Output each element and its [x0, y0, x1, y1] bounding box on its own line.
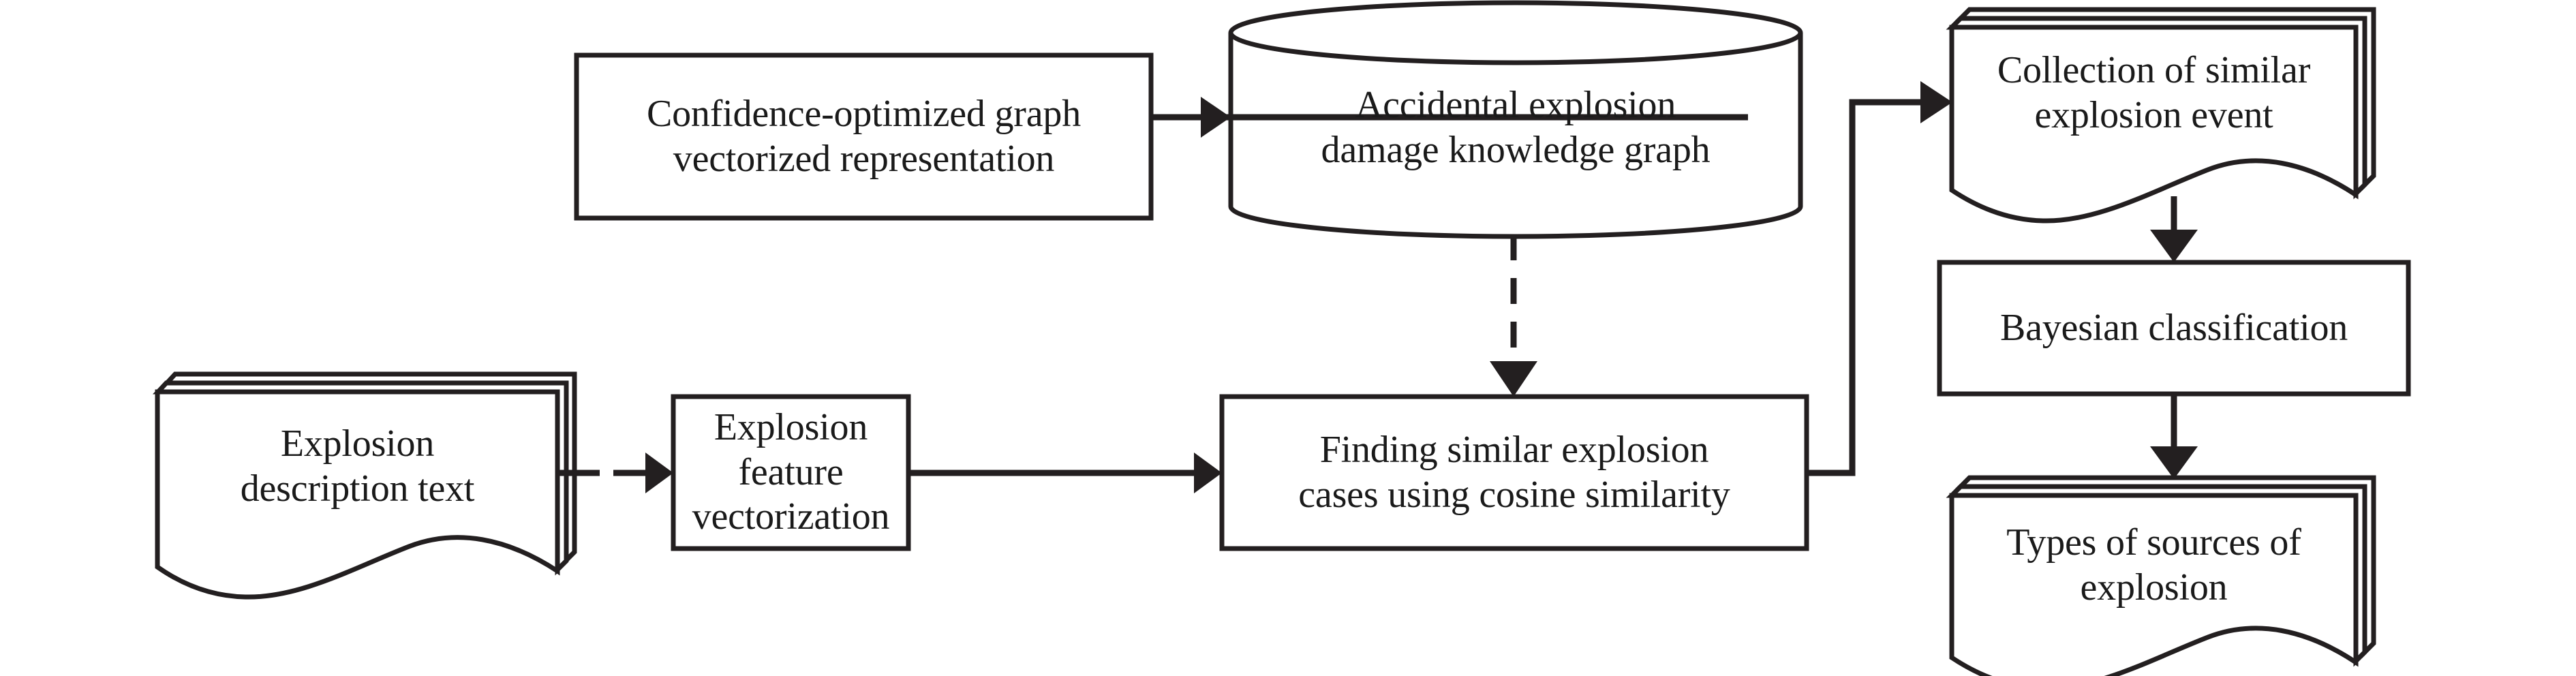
node-types-sources-shape[interactable]: [1952, 478, 2374, 676]
node-feature-vectorization-shape[interactable]: [673, 397, 908, 549]
node-confidence-graph-shape[interactable]: [577, 55, 1151, 218]
edge-bayesian-to-types: [2150, 394, 2198, 479]
edge-finding-to-collection: [1807, 81, 1952, 473]
edge-collection-to-bayesian: [2150, 196, 2198, 262]
edge-knowledge-to-finding-dashed: [1490, 234, 1537, 397]
diagram-canvas: Confidence-optimized graph vectorized re…: [0, 0, 2576, 676]
node-finding-similar-shape[interactable]: [1222, 397, 1807, 549]
node-bayesian-shape[interactable]: [1939, 262, 2408, 394]
flowchart-graphics: [0, 0, 2576, 676]
node-collection-similar-shape[interactable]: [1952, 10, 2374, 221]
node-explosion-text-shape[interactable]: [157, 374, 574, 597]
edge-vectorization-to-finding: [908, 452, 1222, 493]
